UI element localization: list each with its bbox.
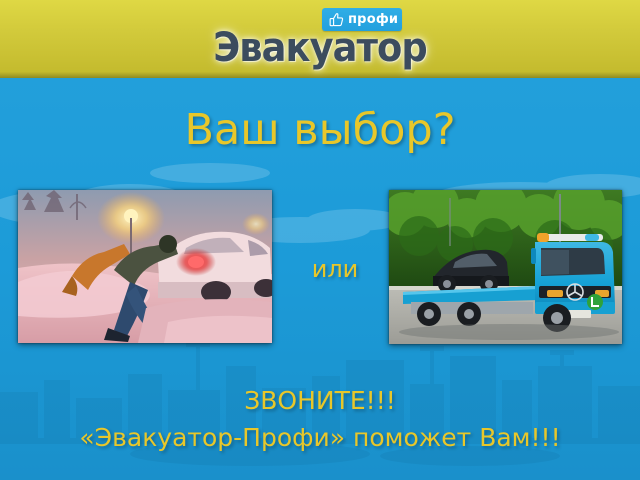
or-label: или [280,255,390,283]
header-band: Эвакуатор [0,0,640,78]
profi-badge-label: профи [348,13,398,27]
photo-blue-tow-truck [389,190,622,344]
page-title: Эвакуатор [26,26,615,70]
tow-truck-illustration [389,190,622,344]
cta-line-2: «Эвакуатор-Профи» поможет Вам!!! [0,423,640,453]
slide-canvas: Эвакуатор профи Ваш выбор? [0,0,640,480]
headline: Ваш выбор? [0,104,640,156]
cta-line-1: ЗВОНИТЕ!!! [0,386,640,416]
snow-scene-illustration [18,190,272,343]
profi-badge[interactable]: профи [322,8,402,31]
thumbs-up-icon [327,11,345,29]
photo-people-pushing-car-in-snow [18,190,272,343]
